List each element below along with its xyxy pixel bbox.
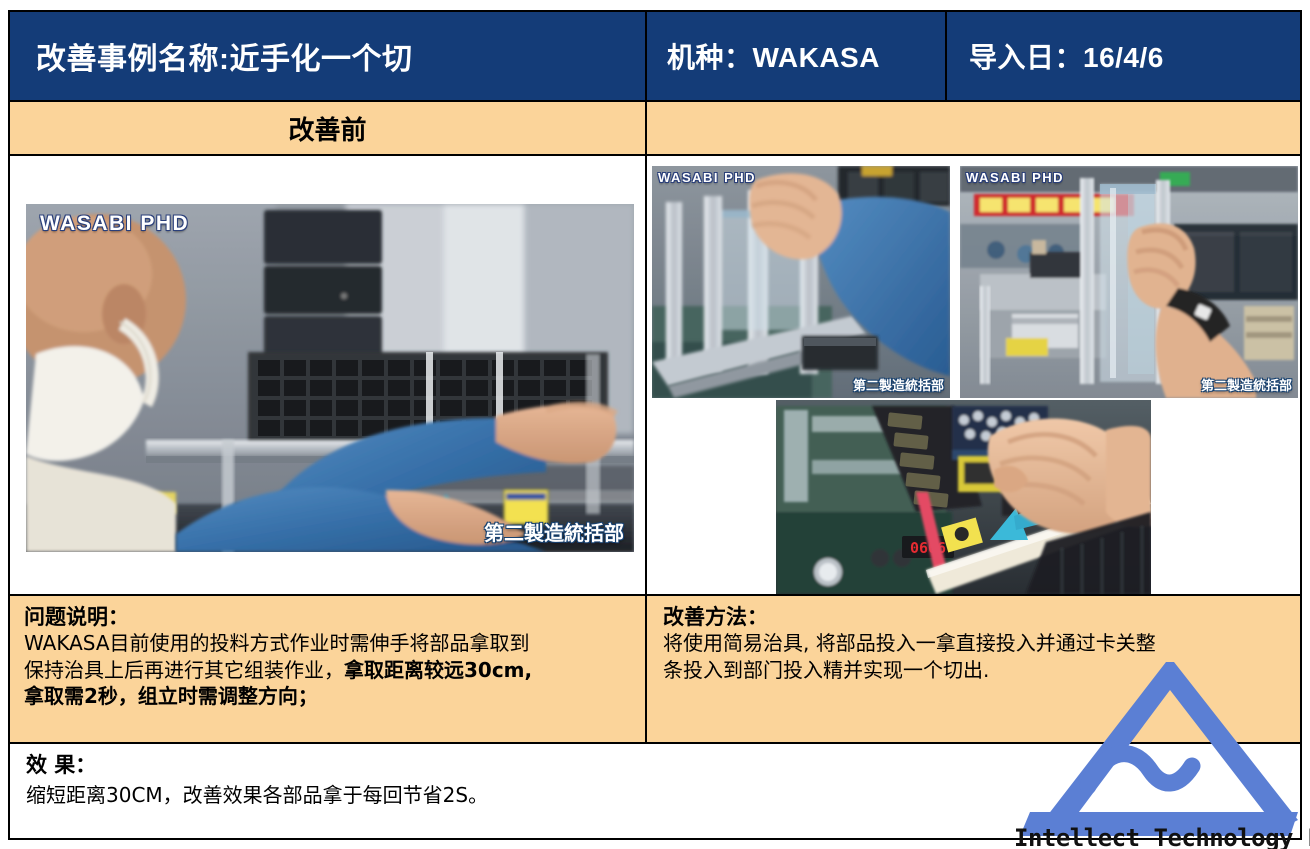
page-title: 改善事例名称:近手化一个切 [36,34,413,78]
problem-body: WAKASA目前使用的投料方式作业时需伸手将部品拿取到 保持治具上后再进行其它组… [24,630,635,709]
method-cell: 改善方法： 将使用简易治具, 将部品投入一拿直接投入并通过卡关整 条投入到部门投… [647,596,1300,742]
photo-row: 0606 [10,156,1300,594]
slide-root: 改善事例名称:近手化一个切 机种：WAKASA 导入日：16/4/6 改善前 [0,0,1310,849]
problem-heading: 问题说明： [24,604,635,630]
method-line-1: 将使用简易治具, 将部品投入一拿直接投入并通过卡关整 [663,630,1286,656]
model-label: 机种：WAKASA [667,36,880,76]
problem-line-2-bold: 拿取距离较远30cm, [344,658,532,682]
logo-tagline: Intellect Technology Lean [1014,824,1310,849]
effect-body: 缩短距离30CM，改善效果各部品拿于每回节省2S。 [26,781,1300,809]
subtitle-row: 改善前 [10,100,1300,156]
subtitle-after-cell [647,102,1300,154]
after-bottom-graphic: 0606 [776,400,1151,594]
after-photo-bottom: 0606 [776,400,1151,594]
subtitle-before-cell: 改善前 [10,102,647,154]
problem-line-1: WAKASA目前使用的投料方式作业时需伸手将部品拿取到 [24,630,635,656]
method-body: 将使用简易治具, 将部品投入一拿直接投入并通过卡关整 条投入到部门投入精并实现一… [663,630,1286,683]
after-top-left-graphic [652,166,950,398]
after-photo-top-right: WASABI PHD 第二製造統括部 [960,166,1298,398]
subtitle-before-label: 改善前 [288,110,366,147]
header-date-cell: 导入日：16/4/6 [947,12,1300,100]
effect-heading: 效 果： [26,752,1300,779]
problem-cell: 问题说明： WAKASA目前使用的投料方式作业时需伸手将部品拿取到 保持治具上后… [10,596,647,742]
photo-right-panel: WASABI PHD 第二製造統括部 [647,156,1300,594]
date-label: 导入日：16/4/6 [969,36,1164,76]
header-row: 改善事例名称:近手化一个切 机种：WAKASA 导入日：16/4/6 [10,12,1300,100]
problem-line-3: 拿取需2秒，组立时需调整方向； [24,683,635,709]
slide-frame: 改善事例名称:近手化一个切 机种：WAKASA 导入日：16/4/6 改善前 [8,10,1302,840]
problem-line-3-bold: 拿取需2秒，组立时需调整方向； [24,684,318,708]
header-model-cell: 机种：WAKASA [647,12,947,100]
after-top-right-graphic [960,166,1298,398]
before-photo-graphic: 0606 [26,204,634,552]
header-title-cell: 改善事例名称:近手化一个切 [10,12,647,100]
problem-line-2: 保持治具上后再进行其它组装作业，拿取距离较远30cm, [24,657,635,683]
description-row: 问题说明： WAKASA目前使用的投料方式作业时需伸手将部品拿取到 保持治具上后… [10,594,1300,744]
before-main-photo: 0606 [26,204,634,552]
after-photo-top-left: WASABI PHD 第二製造統括部 [652,166,950,398]
photo-left-panel: 0606 [10,156,647,594]
problem-line-2-normal: 保持治具上后再进行其它组装作业， [24,658,344,682]
method-line-2: 条投入到部门投入精并实现一个切出. [663,657,1286,683]
method-heading: 改善方法： [663,604,1286,630]
